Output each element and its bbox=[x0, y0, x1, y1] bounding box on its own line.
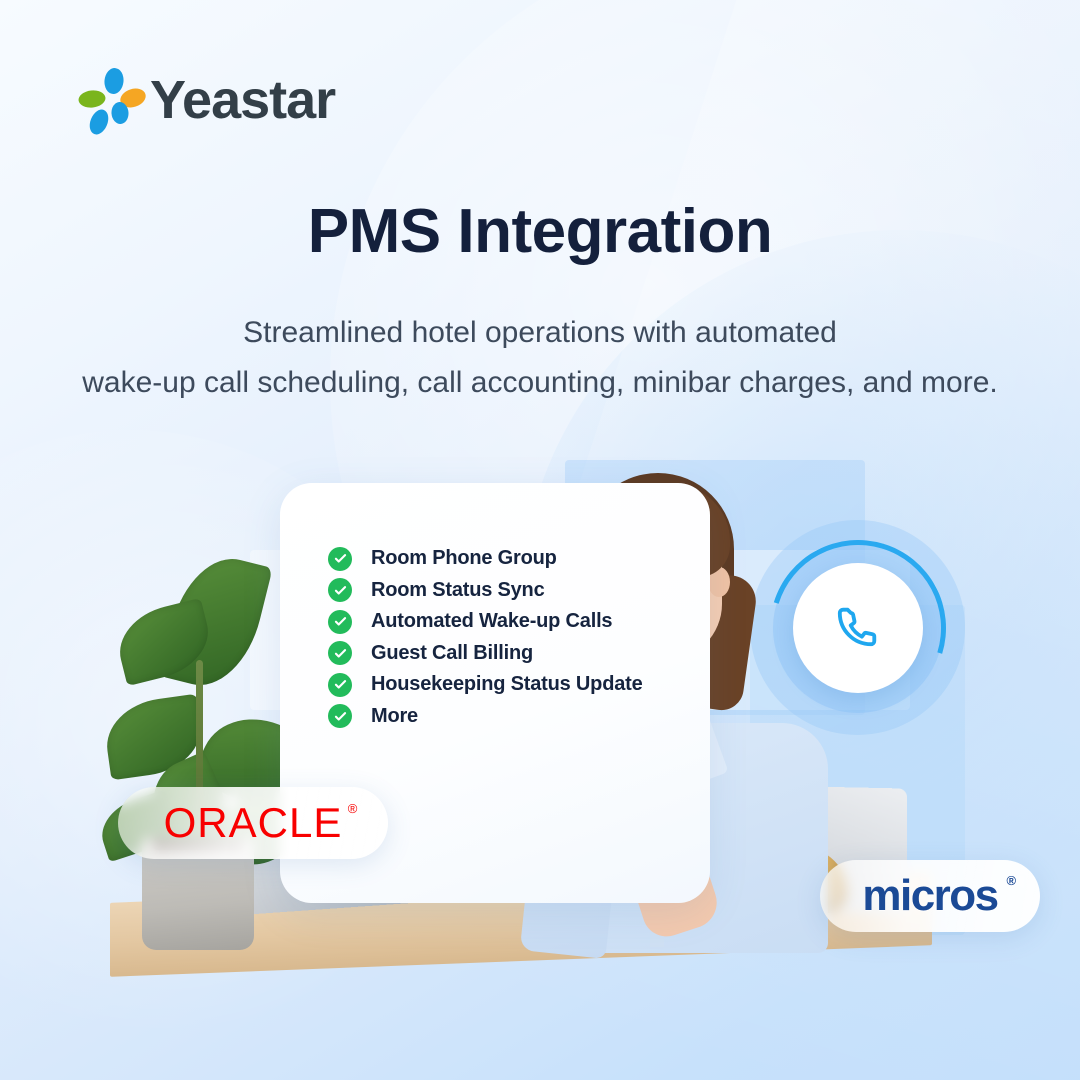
list-item: Housekeeping Status Update bbox=[328, 669, 643, 701]
feature-label: More bbox=[371, 705, 418, 728]
list-item: Guest Call Billing bbox=[328, 638, 643, 670]
check-circle-icon bbox=[328, 578, 352, 602]
check-circle-icon bbox=[328, 704, 352, 728]
brand-logo[interactable]: Yeastar bbox=[78, 64, 338, 140]
micros-wordmark: micros® bbox=[862, 871, 997, 921]
page-title: PMS Integration bbox=[0, 196, 1080, 267]
page-subtitle: Streamlined hotel operations with automa… bbox=[0, 308, 1080, 408]
feature-label: Housekeeping Status Update bbox=[371, 673, 643, 696]
subtitle-line-1: Streamlined hotel operations with automa… bbox=[243, 316, 837, 349]
phone-handset-icon bbox=[835, 603, 881, 654]
subtitle-line-2: wake-up call scheduling, call accounting… bbox=[0, 358, 1080, 408]
oracle-label: ORACLE bbox=[164, 799, 343, 846]
feature-label: Room Phone Group bbox=[371, 547, 557, 570]
registered-mark: ® bbox=[1007, 873, 1015, 888]
check-circle-icon bbox=[328, 547, 352, 571]
list-item: Room Status Sync bbox=[328, 575, 643, 607]
feature-label: Automated Wake-up Calls bbox=[371, 610, 612, 633]
feature-label: Room Status Sync bbox=[371, 579, 545, 602]
oracle-wordmark: ORACLE® bbox=[164, 799, 343, 847]
phone-badge[interactable] bbox=[793, 563, 923, 693]
brand-wordmark: Yeastar bbox=[150, 66, 335, 134]
micros-label: micros bbox=[862, 871, 997, 920]
registered-mark: ® bbox=[348, 801, 359, 816]
check-circle-icon bbox=[328, 673, 352, 697]
promo-banner: Yeastar PMS Integration Streamlined hote… bbox=[0, 0, 1080, 1080]
list-item: More bbox=[328, 701, 643, 733]
check-circle-icon bbox=[328, 610, 352, 634]
list-item: Room Phone Group bbox=[328, 543, 643, 575]
yeastar-pinwheel-logo-icon bbox=[78, 68, 146, 136]
check-circle-icon bbox=[328, 641, 352, 665]
feature-list: Room Phone Group Room Status Sync Automa… bbox=[328, 543, 643, 732]
partner-badge-micros[interactable]: micros® bbox=[820, 860, 1040, 932]
partner-badge-oracle[interactable]: ORACLE® bbox=[118, 787, 388, 859]
list-item: Automated Wake-up Calls bbox=[328, 606, 643, 638]
feature-label: Guest Call Billing bbox=[371, 642, 533, 665]
